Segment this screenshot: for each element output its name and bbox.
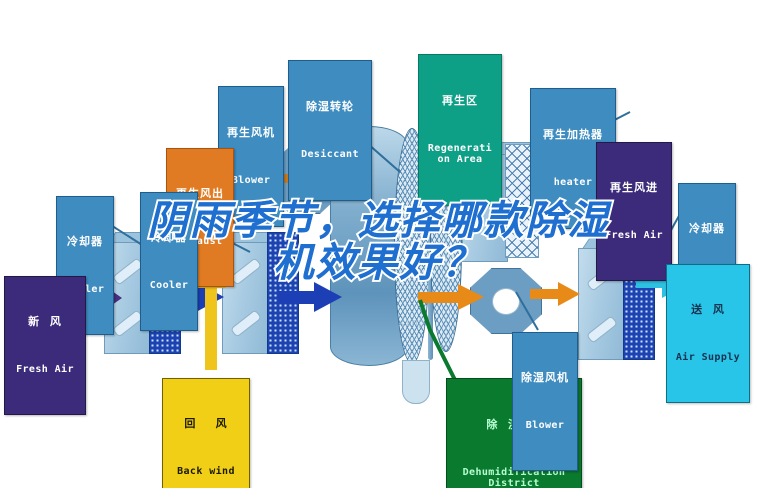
overlay-title: 阴雨季节，选择哪款除湿 机效果好？ <box>0 200 757 284</box>
dehumidifier-schematic: xinpu <box>0 0 757 488</box>
dehum-blower-hub-icon <box>492 288 520 315</box>
label-regeneration-area-en: Regenerati on Area <box>422 143 498 165</box>
label-fresh-air-inlet-en: Fresh Air <box>8 364 82 375</box>
label-fresh-air-inlet[interactable]: 新 风 Fresh Air <box>4 276 86 415</box>
label-fresh-air-inlet-cn: 新 风 <box>8 316 82 328</box>
label-desiccant[interactable]: 除湿转轮 Desiccant <box>288 60 372 201</box>
watermark: xinpu <box>398 316 431 329</box>
dehumidified-air-arrow <box>418 284 486 310</box>
label-back-wind[interactable]: 回 风 Back wind <box>162 378 250 488</box>
wheel-bottom-duct <box>402 360 430 404</box>
label-dehumidification-blower-cn: 除湿风机 <box>516 372 574 384</box>
label-back-wind-cn: 回 风 <box>166 418 246 430</box>
label-air-supply-cn: 送 风 <box>670 304 746 316</box>
label-desiccant-cn: 除湿转轮 <box>292 101 368 113</box>
label-regeneration-blower-cn: 再生风机 <box>222 127 280 139</box>
label-dehumidification-blower[interactable]: 除湿风机 Blower <box>512 332 578 471</box>
label-air-supply[interactable]: 送 风 Air Supply <box>666 264 750 403</box>
overlay-title-line2: 机效果好？ <box>0 242 757 284</box>
overlay-title-line1: 阴雨季节，选择哪款除湿 <box>0 200 757 242</box>
process-air-arrow-2 <box>278 282 342 312</box>
label-regeneration-heater-cn: 再生加热器 <box>534 129 612 141</box>
label-regeneration-area[interactable]: 再生区 Regenerati on Area <box>418 54 502 206</box>
label-regeneration-area-cn: 再生区 <box>422 95 498 107</box>
label-dehumidification-blower-en: Blower <box>516 420 574 431</box>
label-desiccant-en: Desiccant <box>292 149 368 160</box>
blower-outlet-arrow <box>530 282 582 306</box>
label-back-wind-en: Back wind <box>166 466 246 477</box>
label-air-supply-en: Air Supply <box>670 352 746 363</box>
label-regeneration-fresh-air-cn: 再生风进 <box>600 182 668 194</box>
